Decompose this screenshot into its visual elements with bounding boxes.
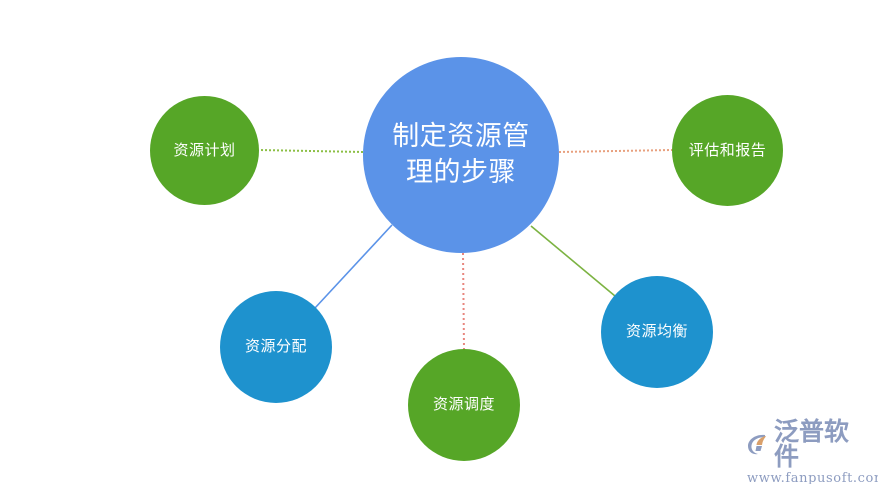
node-resource-schedule[interactable]: 资源调度: [408, 349, 520, 461]
fanpu-logo-icon: [745, 431, 771, 457]
node-evaluation-report[interactable]: 评估和报告: [672, 95, 783, 206]
node-resource-balance[interactable]: 资源均衡: [601, 276, 713, 388]
node-resource-balance-label: 资源均衡: [620, 322, 694, 341]
node-resource-allocation-label: 资源分配: [239, 337, 313, 356]
node-center-topic[interactable]: 制定资源管 理的步骤: [363, 57, 559, 253]
node-evaluation-report-label: 评估和报告: [683, 141, 773, 160]
brand-watermark: 泛普软件 www.fanpusoft.com: [745, 424, 873, 480]
node-resource-allocation[interactable]: 资源分配: [220, 291, 332, 403]
node-resource-plan-label: 资源计划: [167, 141, 241, 160]
connector-center-to-balance: [531, 226, 615, 296]
connector-center-to-plan: [259, 150, 363, 152]
watermark-url: www.fanpusoft.com: [747, 471, 878, 484]
connector-center-to-report: [559, 150, 672, 152]
watermark-brand-row: 泛普软件: [745, 419, 873, 469]
diagram-canvas: 制定资源管 理的步骤 资源计划 评估和报告 资源分配 资源调度 资源均衡 泛普软…: [0, 0, 878, 484]
node-resource-plan[interactable]: 资源计划: [150, 96, 259, 205]
node-resource-schedule-label: 资源调度: [427, 395, 501, 414]
connector-center-to-schedule: [463, 253, 464, 349]
watermark-brand-name: 泛普软件: [774, 419, 873, 469]
node-center-label: 制定资源管 理的步骤: [376, 119, 546, 191]
connector-center-to-allocation: [315, 225, 392, 308]
